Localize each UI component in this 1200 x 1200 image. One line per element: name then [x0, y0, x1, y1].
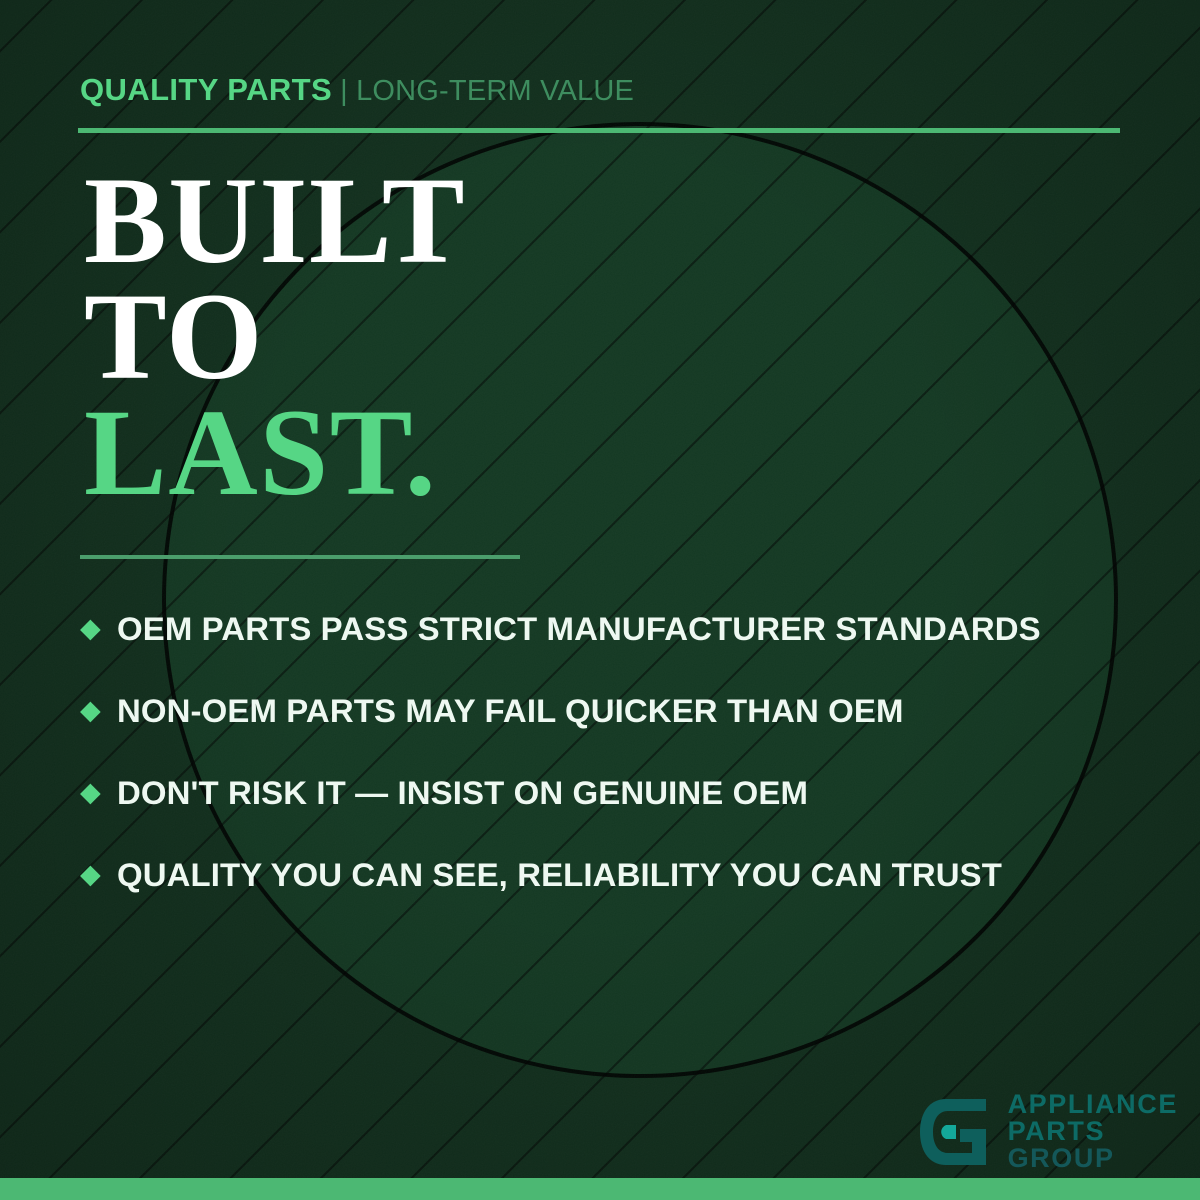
- list-item-label: QUALITY YOU CAN SEE, RELIABILITY YOU CAN…: [117, 857, 1002, 894]
- eyebrow-strong-text: QUALITY PARTS: [80, 72, 332, 107]
- list-item-label: DON'T RISK IT — INSIST ON GENUINE OEM: [117, 775, 808, 812]
- brand-word-appliance: APPLIANCE: [1008, 1091, 1178, 1118]
- bottom-accent-bar: [0, 1178, 1200, 1200]
- eyebrow-kicker: QUALITY PARTS| LONG-TERM VALUE: [80, 74, 634, 106]
- list-item: ◆ OEM PARTS PASS STRICT MANUFACTURER STA…: [80, 588, 1160, 670]
- bullet-list: ◆ OEM PARTS PASS STRICT MANUFACTURER STA…: [80, 588, 1160, 916]
- diamond-bullet-icon: ◆: [80, 861, 101, 888]
- diamond-bullet-icon: ◆: [80, 779, 101, 806]
- divider-top: [78, 128, 1120, 133]
- list-item: ◆ DON'T RISK IT — INSIST ON GENUINE OEM: [80, 752, 1160, 834]
- headline-line-3-accent: LAST.: [84, 395, 466, 511]
- poster-content: QUALITY PARTS| LONG-TERM VALUE BUILT TO …: [0, 0, 1200, 1200]
- brand-word-group: GROUP: [1008, 1145, 1178, 1172]
- headline-line-2: TO: [84, 279, 466, 395]
- diamond-bullet-icon: ◆: [80, 615, 101, 642]
- poster-canvas: QUALITY PARTS| LONG-TERM VALUE BUILT TO …: [0, 0, 1200, 1200]
- divider-middle: [80, 555, 520, 559]
- g-monogram-icon: [916, 1095, 994, 1169]
- brand-logo: APPLIANCE PARTS GROUP: [916, 1091, 1178, 1172]
- headline-line-1: BUILT: [84, 163, 466, 279]
- headline: BUILT TO LAST.: [84, 163, 466, 511]
- list-item-label: NON-OEM PARTS MAY FAIL QUICKER THAN OEM: [117, 693, 904, 730]
- eyebrow-light-text: | LONG-TERM VALUE: [340, 75, 634, 107]
- list-item: ◆ QUALITY YOU CAN SEE, RELIABILITY YOU C…: [80, 834, 1160, 916]
- brand-logo-wordmark: APPLIANCE PARTS GROUP: [1008, 1091, 1178, 1172]
- diamond-bullet-icon: ◆: [80, 697, 101, 724]
- list-item: ◆ NON-OEM PARTS MAY FAIL QUICKER THAN OE…: [80, 670, 1160, 752]
- list-item-label: OEM PARTS PASS STRICT MANUFACTURER STAND…: [117, 611, 1041, 648]
- brand-word-parts: PARTS: [1008, 1118, 1178, 1145]
